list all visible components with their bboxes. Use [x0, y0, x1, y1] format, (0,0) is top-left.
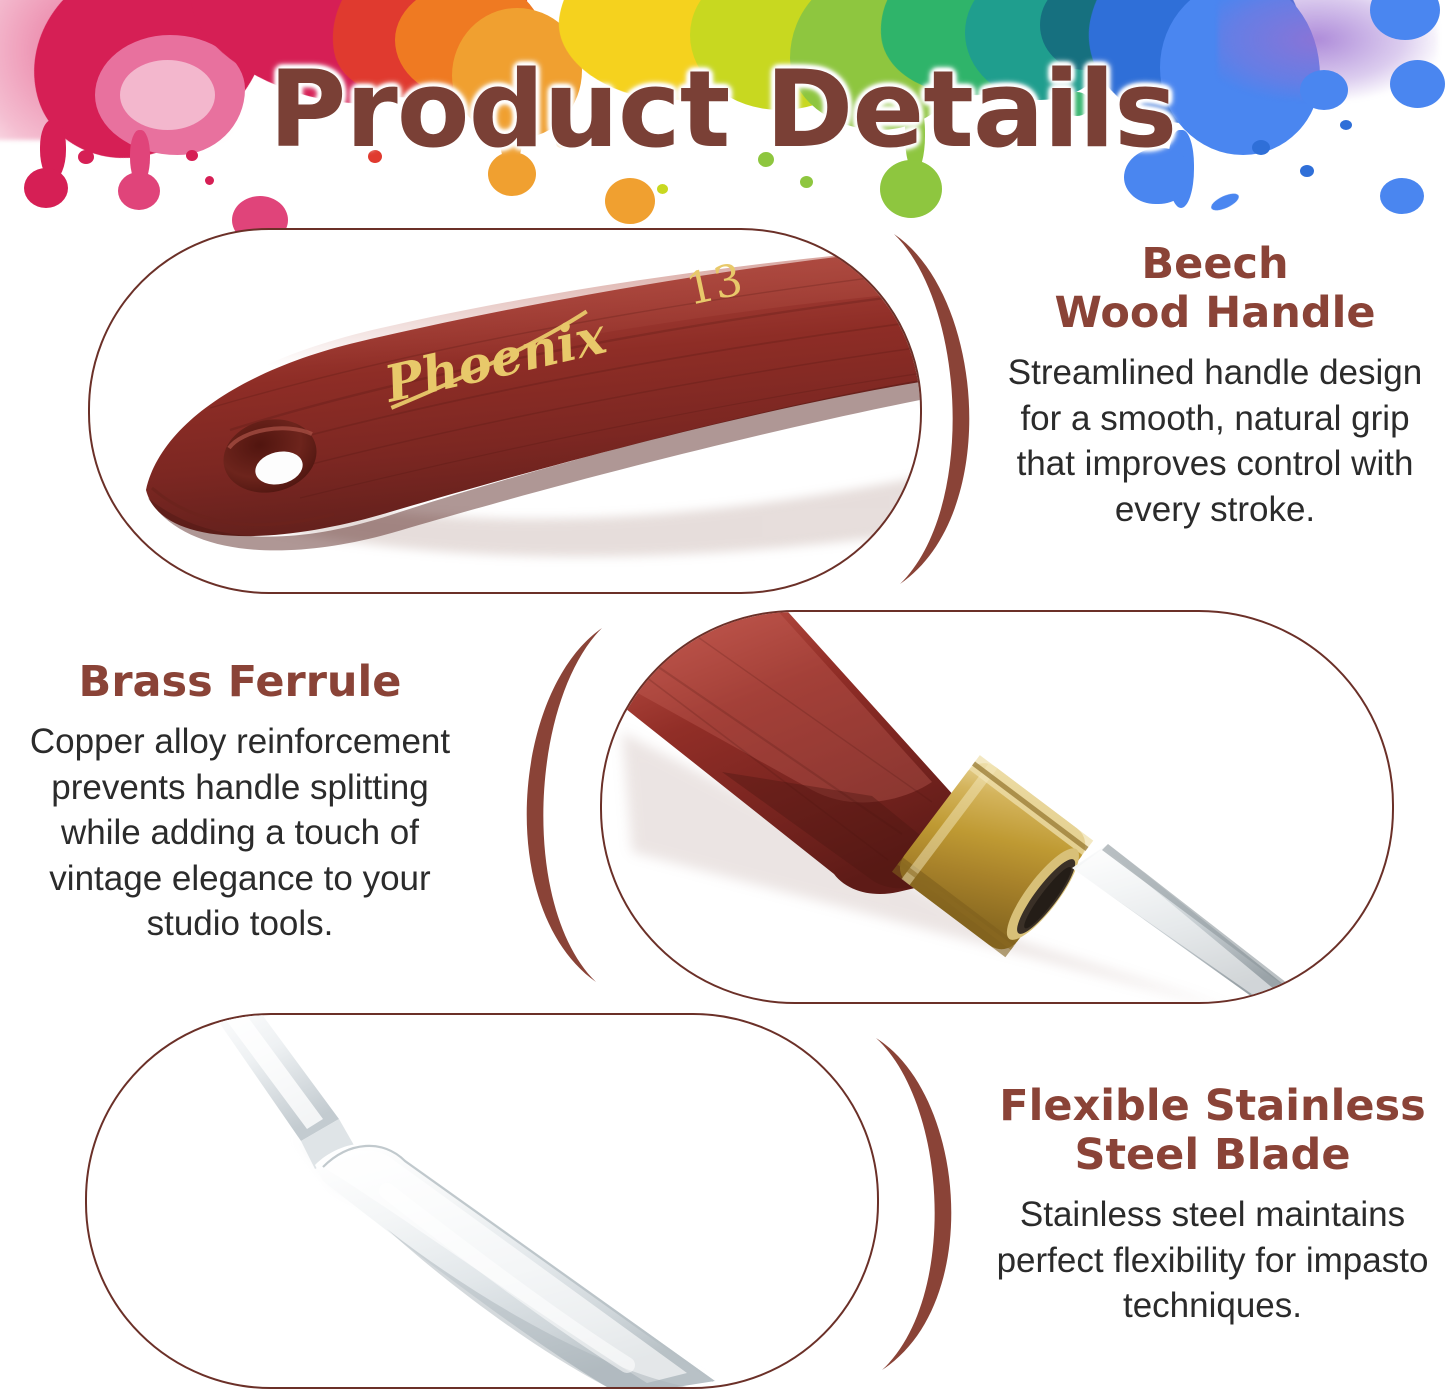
- palette-knife-blade-photo: [87, 1015, 877, 1387]
- paint-splatter: [1380, 178, 1424, 214]
- feature-title: Flexible Stainless Steel Blade: [990, 1082, 1435, 1180]
- accent-crescent-icon: [486, 622, 616, 988]
- paint-splatter: [1209, 190, 1241, 214]
- feature-title-line1: Beech: [1141, 239, 1288, 289]
- photo-frame: Phoenix 13: [88, 228, 922, 594]
- feature-title-line2: Steel Blade: [1074, 1130, 1350, 1180]
- feature-panel-brass-ferrule: Brass Ferrule Copper alloy reinforcement…: [0, 610, 1445, 1002]
- feature-panel-flexible-stainless-steel-blade: Flexible Stainless Steel Blade Stainless…: [0, 1010, 1445, 1387]
- palette-knife-ferrule-photo: [602, 612, 1392, 1002]
- feature-text-brass-ferrule: Brass Ferrule Copper alloy reinforcement…: [10, 658, 470, 947]
- accent-crescent-icon: [880, 228, 1010, 590]
- feature-body: Streamlined handle design for a smooth, …: [1000, 350, 1430, 532]
- feature-panel-beech-wood-handle: Phoenix 13 Beech Wood Handle Streamlined…: [0, 220, 1445, 600]
- feature-body: Copper alloy reinforcement prevents hand…: [10, 719, 470, 947]
- feature-title-line1: Brass Ferrule: [79, 657, 402, 707]
- paint-splatter: [24, 168, 68, 208]
- paint-splatter: [118, 172, 160, 210]
- feature-body: Stainless steel maintains perfect flexib…: [990, 1192, 1435, 1329]
- feature-text-beech-wood-handle: Beech Wood Handle Streamlined handle des…: [1000, 240, 1430, 532]
- paint-splatter: [205, 176, 214, 185]
- accent-crescent-icon: [862, 1032, 992, 1376]
- photo-frame: [85, 1013, 879, 1389]
- header-banner: Product Details: [0, 0, 1445, 232]
- paint-splatter: [605, 178, 655, 224]
- feature-title-line1: Flexible Stainless: [999, 1081, 1425, 1131]
- feature-title: Brass Ferrule: [10, 658, 470, 707]
- feature-title: Beech Wood Handle: [1000, 240, 1430, 338]
- paint-splatter: [657, 184, 668, 194]
- photo-frame: [600, 610, 1394, 1004]
- paint-splatter: [800, 176, 813, 188]
- page-title: Product Details: [0, 48, 1445, 171]
- palette-knife-handle-photo: Phoenix 13: [90, 230, 920, 592]
- feature-text-flexible-stainless-steel-blade: Flexible Stainless Steel Blade Stainless…: [990, 1082, 1435, 1329]
- feature-title-line2: Wood Handle: [1054, 288, 1375, 338]
